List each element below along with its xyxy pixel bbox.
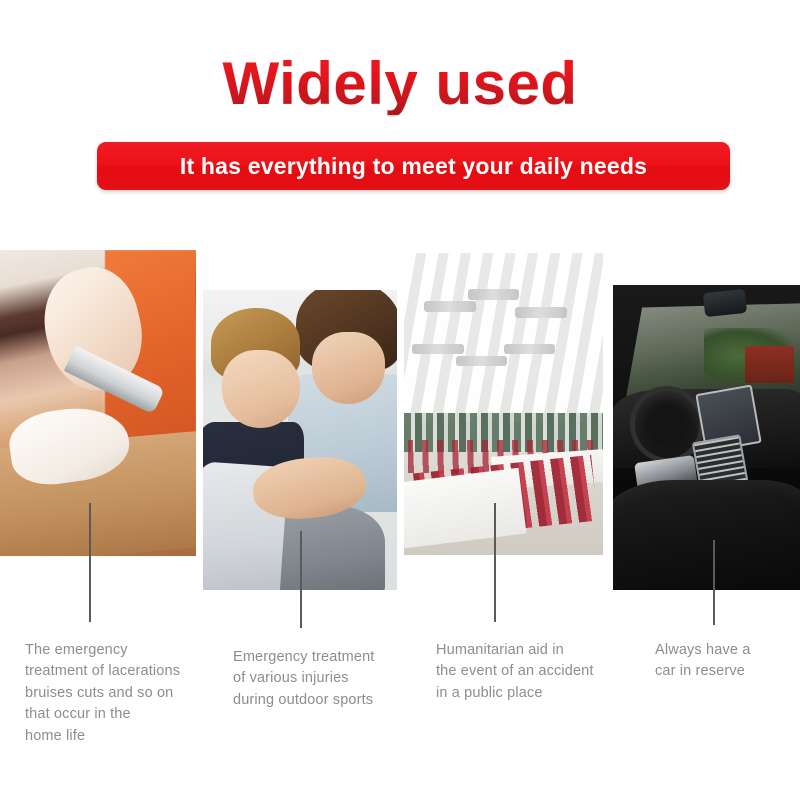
panel-caption-public-place: Humanitarian aid in the event of an acci… — [436, 640, 626, 704]
ceiling-fan-icon — [456, 356, 508, 366]
car-interior-photo — [613, 285, 800, 590]
ceiling-fan-icon — [424, 301, 476, 311]
panel-public-place-image — [404, 253, 603, 555]
ceiling-fan-icon — [515, 307, 567, 317]
connector-line-4 — [713, 540, 715, 625]
rearview-mirror-shape — [703, 289, 747, 318]
ceiling-fan-icon — [504, 344, 556, 354]
car-background-wall-shape — [745, 346, 794, 383]
panel-caption-outdoor-sports: Emergency treatment of various injuries … — [233, 647, 423, 711]
boy-face-shape — [222, 350, 300, 428]
page-title: Widely used — [0, 52, 800, 115]
connector-line-2 — [300, 531, 302, 628]
panel-caption-home-kitchen: The emergency treatment of lacerations b… — [25, 640, 225, 747]
panel-car-image — [613, 285, 800, 590]
connector-line-1 — [89, 503, 91, 622]
canteen-photo — [404, 253, 603, 555]
car-seat-shape — [613, 480, 800, 590]
kitchen-photo — [0, 250, 196, 556]
ceiling-fan-icon — [412, 344, 464, 354]
subtitle-banner: It has everything to meet your daily nee… — [97, 142, 730, 190]
ceiling-fan-icon — [468, 289, 520, 299]
connector-line-3 — [494, 503, 496, 622]
promo-page: Widely used It has everything to meet yo… — [0, 0, 800, 800]
canteen-ceiling-shape — [404, 253, 603, 422]
subtitle-banner-text: It has everything to meet your daily nee… — [180, 153, 647, 180]
panel-home-kitchen-image — [0, 250, 196, 556]
panel-caption-car: Always have a car in reserve — [655, 640, 800, 683]
